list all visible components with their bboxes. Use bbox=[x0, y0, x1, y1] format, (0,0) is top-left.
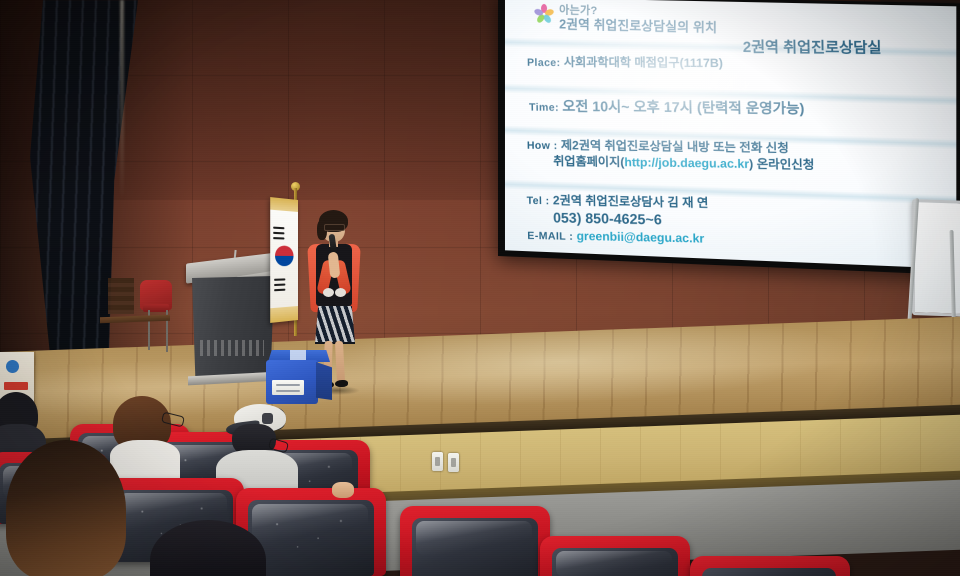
presenter-shoe-right bbox=[335, 380, 348, 387]
trigram-6 bbox=[274, 289, 285, 292]
slide-how-label: How : bbox=[527, 140, 558, 152]
audience-hair bbox=[6, 440, 126, 576]
flower-asterisk-icon bbox=[535, 5, 553, 23]
seat-right-c bbox=[690, 556, 850, 576]
slide-title: 아는가? 2권역 취업진로상담실의 위치 bbox=[559, 4, 717, 36]
slide-how-url: http://job.daegu.ac.kr bbox=[624, 155, 749, 171]
flag-gold-bottom bbox=[270, 306, 298, 323]
seat-right-b bbox=[540, 536, 690, 576]
slide-tel-number: 053) 850-4625~6 bbox=[553, 209, 662, 227]
seat-gloss bbox=[556, 551, 672, 576]
slide-tel-desc: 2권역 취업진로상담사 김 재 연 bbox=[553, 193, 709, 210]
slide-title-row: 아는가? 2권역 취업진로상담실의 위치 bbox=[535, 4, 946, 42]
slide-email-value: greenbii@daegu.ac.kr bbox=[576, 229, 704, 246]
slide-how-line2-pre: 취업홈페이지( bbox=[553, 154, 624, 169]
trigram-2 bbox=[273, 232, 284, 235]
power-outlet-right bbox=[448, 453, 459, 472]
blue-box-side bbox=[316, 362, 332, 400]
stage-red-chair bbox=[140, 280, 172, 310]
slide-tel-label: Tel : bbox=[527, 195, 550, 207]
slide-place-label: Place: bbox=[527, 57, 561, 69]
blue-box-label bbox=[272, 380, 304, 395]
slide-how-line1: 제2권역 취업진로상담실 내방 또는 전화 신청 bbox=[561, 138, 789, 155]
projection-screen-surface: 아는가? 2권역 취업진로상담실의 위치 Place: 사회과학대학 매점입구(… bbox=[505, 0, 956, 269]
slide-email-label: E-MAIL : bbox=[527, 230, 573, 243]
trigram-1 bbox=[273, 227, 284, 230]
slide-how-line2-post: ) 온라인신청 bbox=[749, 157, 815, 172]
banner-bar-red bbox=[4, 382, 28, 390]
audience-hair bbox=[150, 520, 266, 576]
presenter-skirt bbox=[315, 306, 355, 344]
cap-logo bbox=[262, 413, 273, 424]
projection-screen: 아는가? 2권역 취업진로상담실의 위치 Place: 사회과학대학 매점입구(… bbox=[498, 0, 960, 275]
trigram-4 bbox=[274, 278, 285, 280]
taeguk-symbol bbox=[275, 245, 294, 266]
slide-title-line1: 아는가? bbox=[559, 4, 597, 17]
auditorium-photo: 아는가? 2권역 취업진로상담실의 위치 Place: 사회과학대학 매점입구(… bbox=[0, 0, 960, 576]
podium-lectern bbox=[192, 276, 274, 376]
slide-time-label: Time: bbox=[529, 101, 559, 113]
seat-gloss bbox=[416, 521, 532, 555]
podium-vent-grille bbox=[200, 340, 264, 356]
seat-specks bbox=[252, 508, 366, 562]
presenter-leg-right bbox=[335, 341, 345, 383]
korean-national-flag bbox=[270, 197, 298, 323]
power-outlet-left bbox=[432, 452, 443, 471]
slide-contact-block: Tel : 2권역 취업진로상담사 김 재 연 053) 850-4625~6 … bbox=[527, 192, 710, 247]
slide-content: 아는가? 2권역 취업진로상담실의 위치 Place: 사회과학대학 매점입구(… bbox=[505, 0, 956, 269]
trigram-3 bbox=[273, 237, 284, 239]
banner-dot bbox=[6, 360, 19, 373]
slide-how-line: How : 제2권역 취업진로상담실 내방 또는 전화 신청 취업홈페이지(ht… bbox=[527, 137, 815, 174]
slide-place-highlight: 2권역 취업진로상담실 bbox=[743, 39, 882, 60]
presenter-glasses bbox=[324, 224, 345, 231]
slide-time-line: Time: 오전 10시~ 오후 17시 (탄력적 운영가능) bbox=[529, 96, 805, 118]
flag-gold-top bbox=[270, 197, 298, 212]
presenter-cuff-left bbox=[323, 288, 334, 297]
audience-hand bbox=[332, 482, 354, 498]
audience-person-hand bbox=[332, 482, 354, 498]
seat-right-a bbox=[400, 506, 550, 576]
audience-person-long-hair bbox=[6, 440, 126, 576]
slide-email-row: E-MAIL : greenbii@daegu.ac.kr bbox=[527, 227, 709, 247]
stage-wooden-chair bbox=[108, 278, 134, 314]
slide-place-line: Place: 사회과학대학 매점입구(1117B) 2권역 취업진로상담실 bbox=[527, 54, 956, 73]
slide-time-value: 오전 10시~ 오후 17시 (탄력적 운영가능) bbox=[562, 98, 804, 117]
presenter-cuff-right bbox=[335, 288, 346, 297]
slide-how-row2: 취업홈페이지(http://job.daegu.ac.kr) 온라인신청 bbox=[553, 153, 814, 173]
trigram-5 bbox=[274, 284, 285, 287]
slide-place-value: 사회과학대학 매점입구(1117B) bbox=[564, 55, 723, 70]
slide-title-line2: 2권역 취업진로상담실의 위치 bbox=[559, 18, 717, 37]
curtain-highlight-edge bbox=[120, 0, 124, 200]
seat-shell bbox=[702, 568, 836, 576]
blue-storage-box bbox=[266, 350, 332, 406]
audience-person-dark-hair-front bbox=[150, 520, 266, 576]
